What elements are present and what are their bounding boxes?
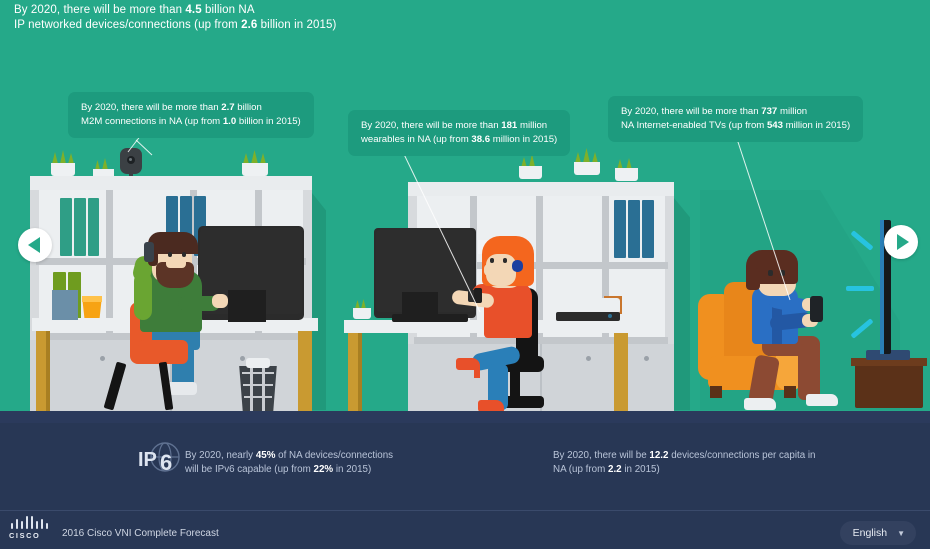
callout-wearables: By 2020, there will be more than 181 mil… <box>348 110 570 156</box>
bookcase-mid-frame-r <box>665 196 674 344</box>
callout-text: billion in 2015) <box>236 116 301 127</box>
callout-number: 38.6 <box>471 134 490 145</box>
person-left <box>108 222 228 412</box>
band-divider <box>0 510 930 511</box>
desk-mid-leg-l-shade <box>358 333 362 411</box>
stat-text: NA (up from <box>553 464 608 475</box>
stat-per-capita-line1: By 2020, there will be 12.2 devices/conn… <box>553 449 816 463</box>
stat-text: By 2020, nearly <box>185 450 256 461</box>
ipv6-logo: IP 6 <box>138 441 184 477</box>
book <box>60 198 72 256</box>
headline-line1: By 2020, there will be more than 4.5 bil… <box>14 3 336 18</box>
cabinet-knob <box>100 356 105 361</box>
callout-number: 2.7 <box>221 102 234 113</box>
bookcase-mid-top <box>408 182 674 196</box>
headline-text: billion in 2015) <box>257 19 336 31</box>
stat-text: By 2020, there will be <box>553 450 649 461</box>
callout-wearables-line1: By 2020, there will be more than 181 mil… <box>361 119 557 133</box>
tv-stand <box>855 362 923 408</box>
stat-text: in 2015) <box>622 464 660 475</box>
triangle-left-icon <box>28 237 40 253</box>
person-mid <box>458 228 588 413</box>
headline-text: IP networked devices/connections (up fro… <box>14 19 241 31</box>
stat-text: of NA devices/connections <box>275 450 393 461</box>
trash-bin <box>238 362 278 412</box>
prev-slide-button[interactable] <box>18 228 52 262</box>
smartphone <box>810 296 823 322</box>
tv-signal-line-2 <box>846 286 874 291</box>
plant-mid-1 <box>518 156 544 180</box>
cisco-wordmark: CISCO <box>9 531 40 540</box>
stat-text: in 2015) <box>333 464 371 475</box>
ipv6-logo-ip: IP <box>138 449 157 471</box>
callout-m2m-line2: M2M connections in NA (up from 1.0 billi… <box>81 115 301 129</box>
callout-number: 181 <box>501 120 517 131</box>
callout-text: million in 2015) <box>783 120 850 131</box>
headline-text: By 2020, there will be more than <box>14 4 185 16</box>
monitor-left-stand <box>228 290 266 322</box>
triangle-right-icon <box>897 234 909 250</box>
callout-number: 1.0 <box>223 116 236 127</box>
stat-number: 45% <box>256 450 276 461</box>
headline-text: billion NA <box>202 4 255 16</box>
smartwatch <box>474 288 482 303</box>
book-stack-left <box>52 290 78 320</box>
callout-text: million in 2015) <box>490 134 557 145</box>
next-slide-button[interactable] <box>884 225 918 259</box>
stat-number: 12.2 <box>649 450 668 461</box>
callout-text: NA Internet-enabled TVs (up from <box>621 120 767 131</box>
callout-text: wearables in NA (up from <box>361 134 471 145</box>
book <box>614 200 626 258</box>
keyboard-mid <box>392 314 468 322</box>
cabinet-knob <box>644 356 649 361</box>
plant-desk-mid <box>352 300 372 320</box>
headline: By 2020, there will be more than 4.5 bil… <box>14 3 336 33</box>
callout-text: billion <box>235 102 262 113</box>
callout-number: 543 <box>767 120 783 131</box>
cabinet-knob <box>240 356 245 361</box>
book <box>642 200 654 258</box>
plant-left-3 <box>240 152 270 177</box>
callout-text: By 2020, there will be more than <box>81 102 221 113</box>
callout-wearables-line2: wearables in NA (up from 38.6 million in… <box>361 133 557 147</box>
desk-left-leg-l-shade <box>46 331 50 411</box>
callout-text: M2M connections in NA (up from <box>81 116 223 127</box>
stat-number: 2.2 <box>608 464 622 475</box>
bookcase-left-top <box>30 176 312 190</box>
book <box>74 198 86 256</box>
slide-canvas: By 2020, there will be more than 2.7 bil… <box>0 0 930 549</box>
ipv6-logo-six: 6 <box>160 450 172 475</box>
plant-left-1 <box>50 152 76 176</box>
stat-number: 22% <box>314 464 334 475</box>
plant-mid-3 <box>614 158 640 182</box>
book <box>88 198 99 256</box>
cup-left <box>82 296 102 320</box>
callout-number: 737 <box>761 106 777 117</box>
book <box>628 200 640 258</box>
callout-tvs-line1: By 2020, there will be more than 737 mil… <box>621 105 850 119</box>
person-right <box>718 252 848 412</box>
desk-left-leg-r <box>298 331 312 411</box>
callout-tvs-line2: NA Internet-enabled TVs (up from 543 mil… <box>621 119 850 133</box>
language-label: English <box>853 527 887 539</box>
callout-m2m: By 2020, there will be more than 2.7 bil… <box>68 92 314 138</box>
stat-text: will be IPv6 capable (up from <box>185 464 314 475</box>
callout-text: By 2020, there will be more than <box>621 106 761 117</box>
plant-mid-2 <box>572 150 602 176</box>
wearable-earpiece <box>512 260 523 272</box>
stat-ipv6-line2: will be IPv6 capable (up from 22% in 201… <box>185 463 393 477</box>
chevron-down-icon: ▼ <box>897 529 905 538</box>
headline-number: 2.6 <box>241 19 257 31</box>
callout-tvs: By 2020, there will be more than 737 mil… <box>608 96 863 142</box>
callout-text: million <box>517 120 547 131</box>
callout-text: million <box>777 106 807 117</box>
desk-mid-leg-r <box>614 333 628 411</box>
language-selector[interactable]: English ▼ <box>840 521 916 545</box>
stat-per-capita-line2: NA (up from 2.2 in 2015) <box>553 463 816 477</box>
headline-line2: IP networked devices/connections (up fro… <box>14 18 336 33</box>
stat-per-capita: By 2020, there will be 12.2 devices/conn… <box>553 449 816 477</box>
floor-band <box>0 411 930 423</box>
callout-text: By 2020, there will be more than <box>361 120 501 131</box>
footer-caption: 2016 Cisco VNI Complete Forecast <box>62 528 219 539</box>
stat-ipv6: By 2020, nearly 45% of NA devices/connec… <box>185 449 393 477</box>
stat-text: devices/connections per capita in <box>668 450 815 461</box>
stat-ipv6-line1: By 2020, nearly 45% of NA devices/connec… <box>185 449 393 463</box>
headline-number: 4.5 <box>185 4 201 16</box>
callout-m2m-line1: By 2020, there will be more than 2.7 bil… <box>81 101 301 115</box>
